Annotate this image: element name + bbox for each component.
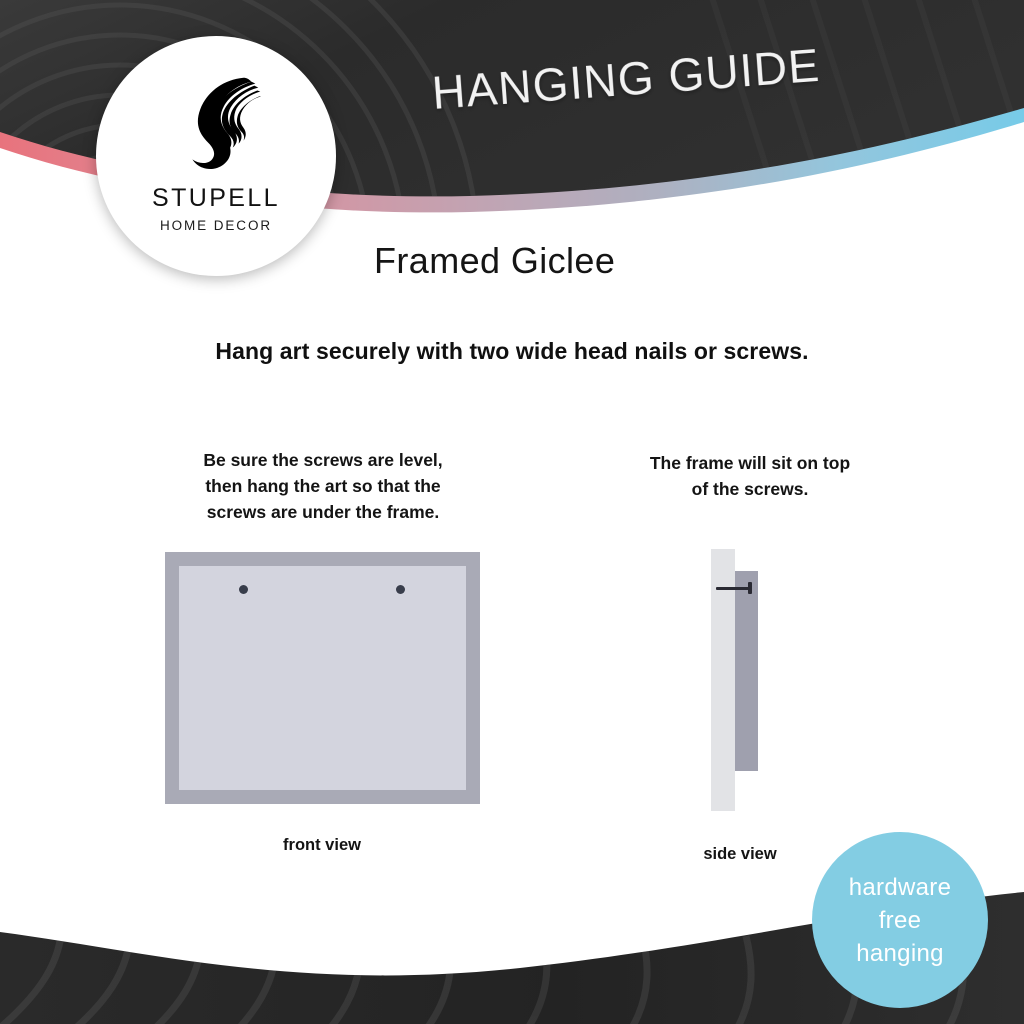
instruction-line: then hang the art so that the [170, 473, 476, 499]
front-view-diagram [165, 552, 480, 804]
nail-head [748, 582, 752, 594]
hanging-guide-page: STUPELL HOME DECOR HANGING GUIDE Framed … [0, 0, 1024, 1024]
badge-line: hanging [856, 937, 944, 970]
brand-name: STUPELL [152, 184, 280, 213]
lead-instruction: Hang art securely with two wide head nai… [0, 338, 1024, 365]
frame-mat [179, 566, 466, 790]
stupell-swoosh-logo-icon [157, 62, 275, 180]
front-view-instructions: Be sure the screws are level, then hang … [170, 447, 476, 525]
badge-line: free [879, 904, 922, 937]
screw-dot-left [239, 585, 248, 594]
badge-line: hardware [849, 871, 951, 904]
side-view-instructions: The frame will sit on top of the screws. [600, 450, 900, 502]
brand-tagline: HOME DECOR [160, 218, 272, 233]
instruction-line: Be sure the screws are level, [170, 447, 476, 473]
screw-dot-right [396, 585, 405, 594]
nail-shaft [716, 587, 750, 590]
brand-logo-badge: STUPELL HOME DECOR [96, 36, 336, 276]
hardware-free-hanging-badge: hardware free hanging [812, 832, 988, 1008]
page-title: HANGING GUIDE [375, 34, 878, 124]
instruction-line: screws are under the frame. [170, 499, 476, 525]
front-view-label: front view [242, 836, 402, 855]
side-view-label: side view [655, 845, 825, 864]
instruction-line: The frame will sit on top [600, 450, 900, 476]
instruction-line: of the screws. [600, 476, 900, 502]
nail-icon [716, 586, 754, 590]
product-title: Framed Giclee [374, 240, 615, 282]
side-view-frame [735, 571, 758, 771]
